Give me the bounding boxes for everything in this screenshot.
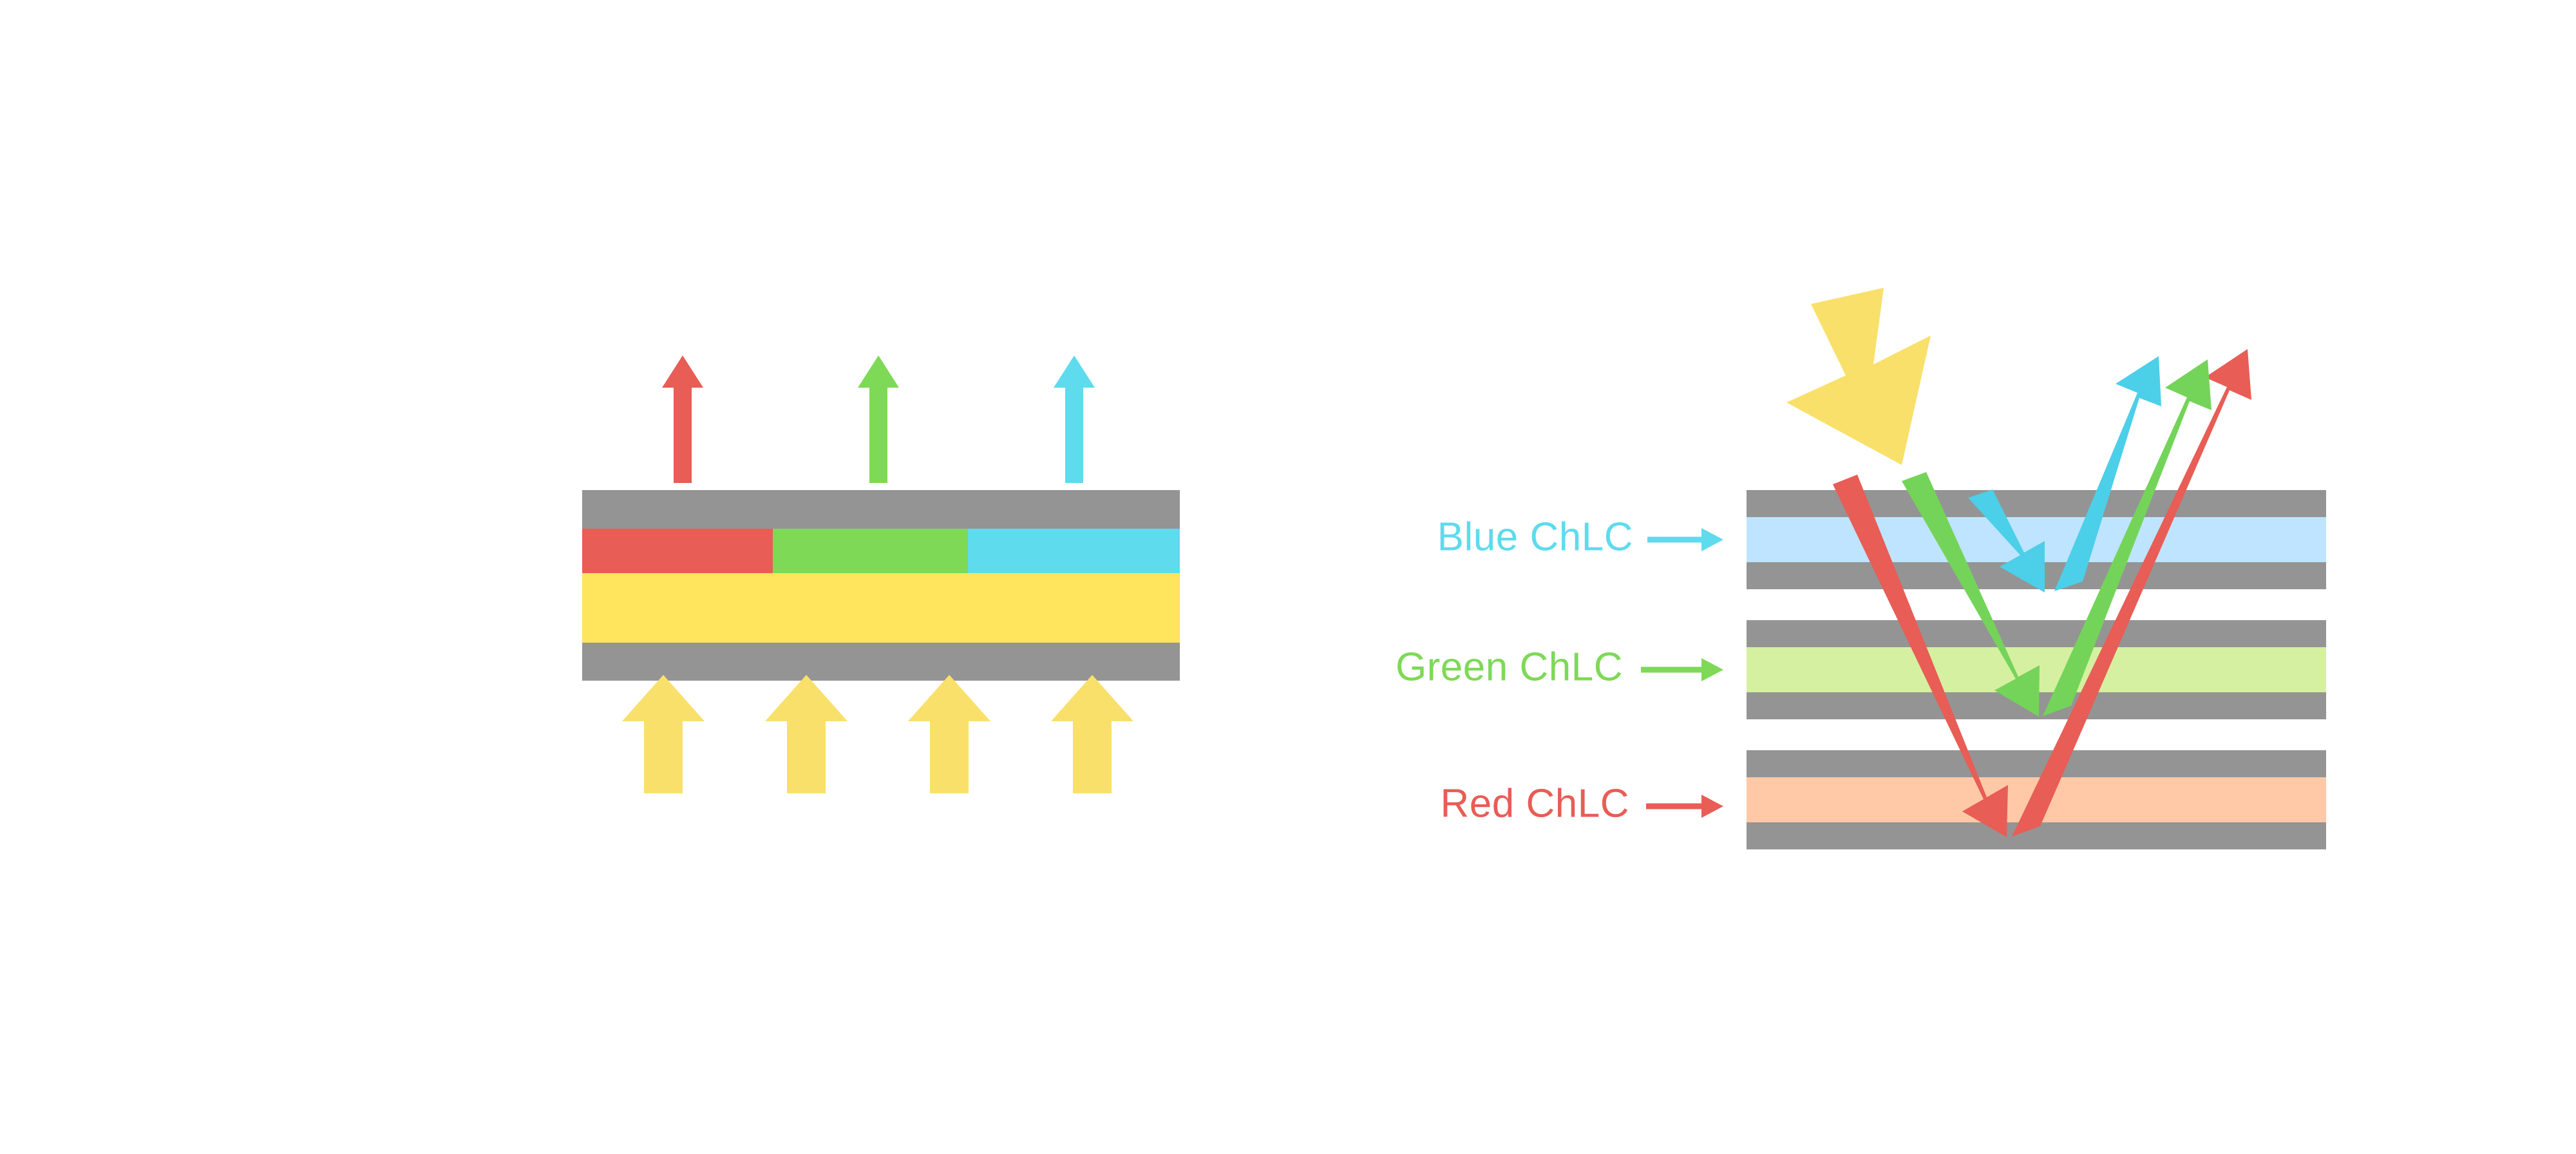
left-layer-stack <box>582 490 1180 681</box>
blue-label-arrow <box>1647 528 1723 551</box>
red-label-arrow <box>1646 795 1723 818</box>
right-panel: Blue ChLC Green ChLC Red ChLC <box>1396 288 2326 849</box>
red-chlc-label: Red ChLC <box>1441 781 1629 826</box>
green-emitted-arrow <box>858 355 899 483</box>
electrode-3 <box>1747 620 2326 647</box>
left-bottom-electrode <box>582 643 1180 681</box>
red-filter-segment <box>582 529 773 573</box>
backlight-arrow-3 <box>908 675 990 793</box>
left-backlight-layer <box>582 573 1180 643</box>
green-filter-segment <box>773 529 968 573</box>
chlc-labels: Blue ChLC Green ChLC Red ChLC <box>1396 515 1723 826</box>
blue-chlc-label: Blue ChLC <box>1437 515 1633 559</box>
diagram-svg: Blue ChLC Green ChLC Red ChLC <box>0 0 2576 1154</box>
backlight-arrow-4 <box>1051 675 1133 793</box>
green-label-arrow <box>1641 658 1723 681</box>
left-top-electrode <box>582 490 1180 529</box>
backlight-arrow-2 <box>765 675 848 793</box>
electrode-1 <box>1747 490 2326 517</box>
left-panel <box>582 355 1180 793</box>
diagram-canvas: Blue ChLC Green ChLC Red ChLC <box>0 0 2576 1154</box>
blue-emitted-arrow <box>1054 355 1095 483</box>
electrode-5 <box>1747 750 2326 777</box>
red-emitted-arrow <box>662 355 703 483</box>
green-chlc-label: Green ChLC <box>1396 645 1623 689</box>
ambient-light-arrow <box>1786 288 1931 465</box>
blue-filter-segment <box>968 529 1180 573</box>
backlight-arrow-1 <box>622 675 705 793</box>
backlight-arrows <box>622 675 1133 793</box>
left-emitted-arrows <box>662 355 1095 483</box>
